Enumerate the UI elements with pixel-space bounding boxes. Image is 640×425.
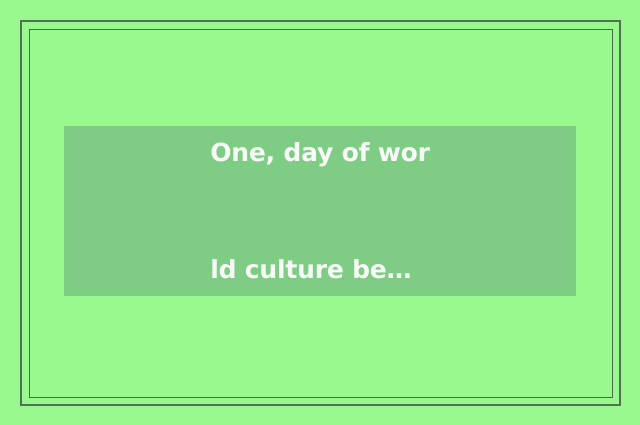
image-canvas: One, day of wor ld culture be… bbox=[0, 0, 640, 425]
quote-line-1: One, day of wor bbox=[210, 133, 430, 172]
quote-text-block: One, day of wor ld culture be… bbox=[210, 55, 430, 367]
quote-banner-panel: One, day of wor ld culture be… bbox=[64, 126, 576, 296]
quote-line-2: ld culture be… bbox=[210, 250, 430, 289]
